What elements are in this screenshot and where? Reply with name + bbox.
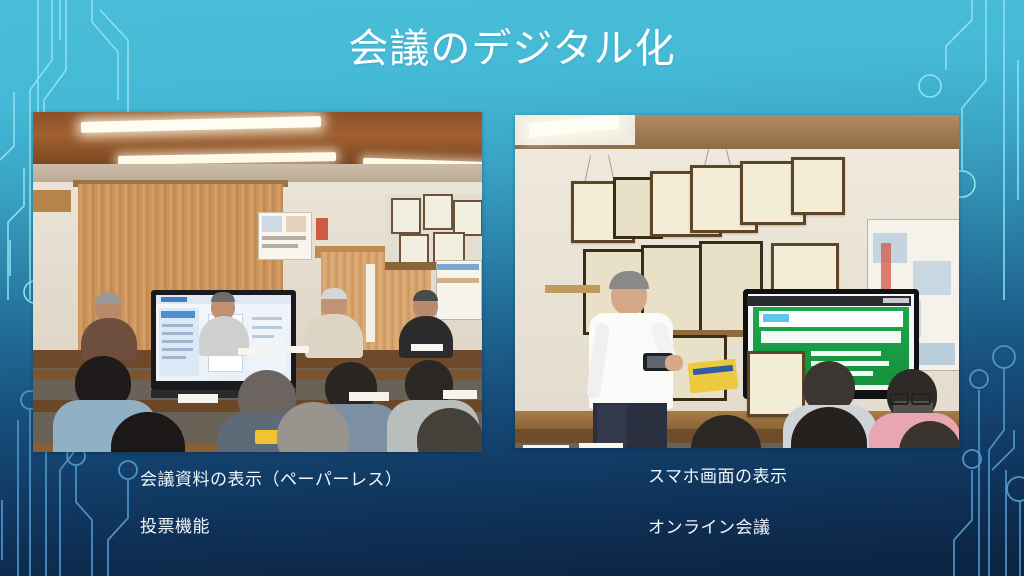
presentation-slide: 会議のデジタル化 <box>0 0 1024 576</box>
caption-right-2: オンライン会議 <box>648 516 771 540</box>
meeting-room-paperless-photo <box>33 112 482 452</box>
caption-left-1: 会議資料の表示（ペーパーレス） <box>140 468 402 492</box>
smartphone-mirroring-photo <box>515 115 959 448</box>
caption-right-1: スマホ画面の表示 <box>648 465 788 489</box>
slide-title: 会議のデジタル化 <box>0 22 1024 76</box>
caption-left-2: 投票機能 <box>140 515 210 539</box>
